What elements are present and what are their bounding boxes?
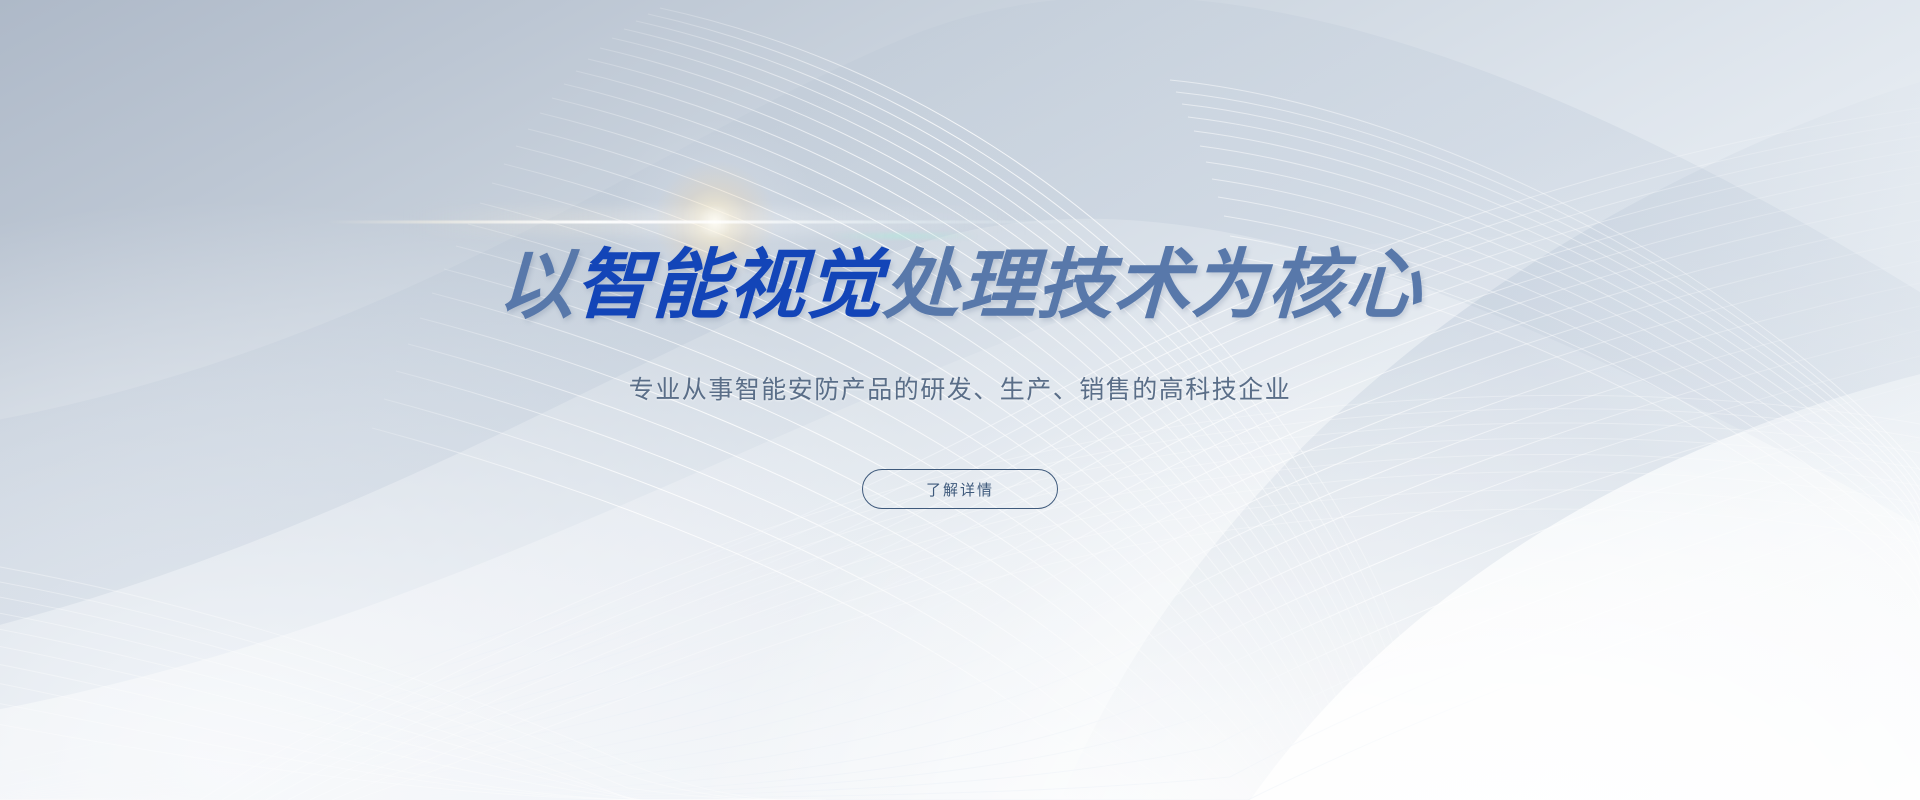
page-title: 以智能视觉处理技术为核心 xyxy=(497,248,1424,324)
headline-segment-1: 以 xyxy=(497,243,577,328)
page-subtitle: 专业从事智能安防产品的研发、生产、销售的高科技企业 xyxy=(629,378,1292,403)
hero-banner: 以智能视觉处理技术为核心 专业从事智能安防产品的研发、生产、销售的高科技企业 了… xyxy=(0,0,1920,800)
learn-more-button[interactable]: 了解详情 xyxy=(862,469,1058,509)
hero-content: 以智能视觉处理技术为核心 专业从事智能安防产品的研发、生产、销售的高科技企业 了… xyxy=(0,0,1920,800)
headline-segment-3: 处理技术为核心 xyxy=(882,243,1424,328)
headline-segment-2: 智能视觉 xyxy=(574,243,885,328)
